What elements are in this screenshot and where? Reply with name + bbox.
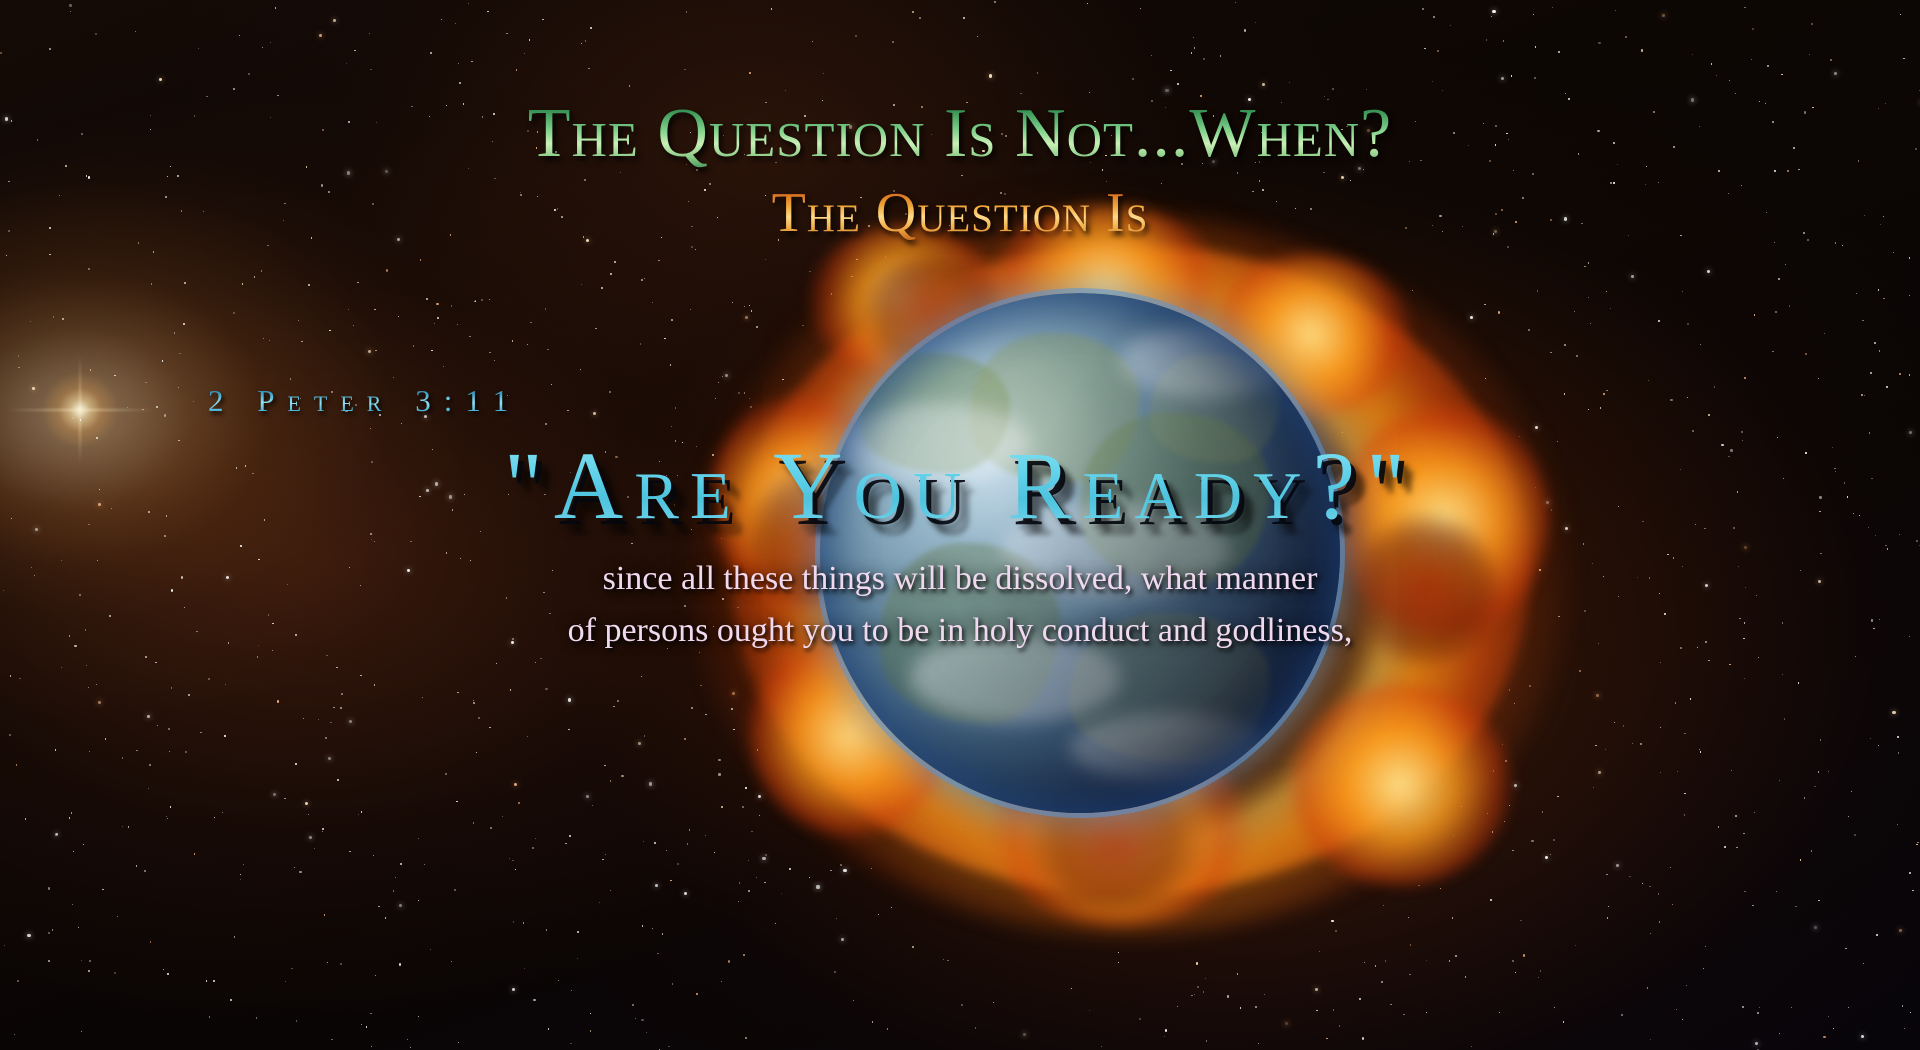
fire-plume	[1290, 685, 1510, 885]
verse-body-line-1: since all these things will be dissolved…	[0, 553, 1920, 605]
title-line-not-when: The Question Is Not...When?	[0, 94, 1920, 174]
title-line-the-question-is: The Question Is	[0, 181, 1920, 245]
main-question-headline: "Are You Ready?"	[0, 430, 1920, 541]
sermon-slide: The Question Is Not...When? The Question…	[0, 0, 1920, 1050]
verse-body-line-2: of persons ought you to be in holy condu…	[0, 605, 1920, 657]
verse-body: since all these things will be dissolved…	[0, 553, 1920, 657]
scripture-reference: 2 Peter 3:11	[208, 383, 521, 419]
